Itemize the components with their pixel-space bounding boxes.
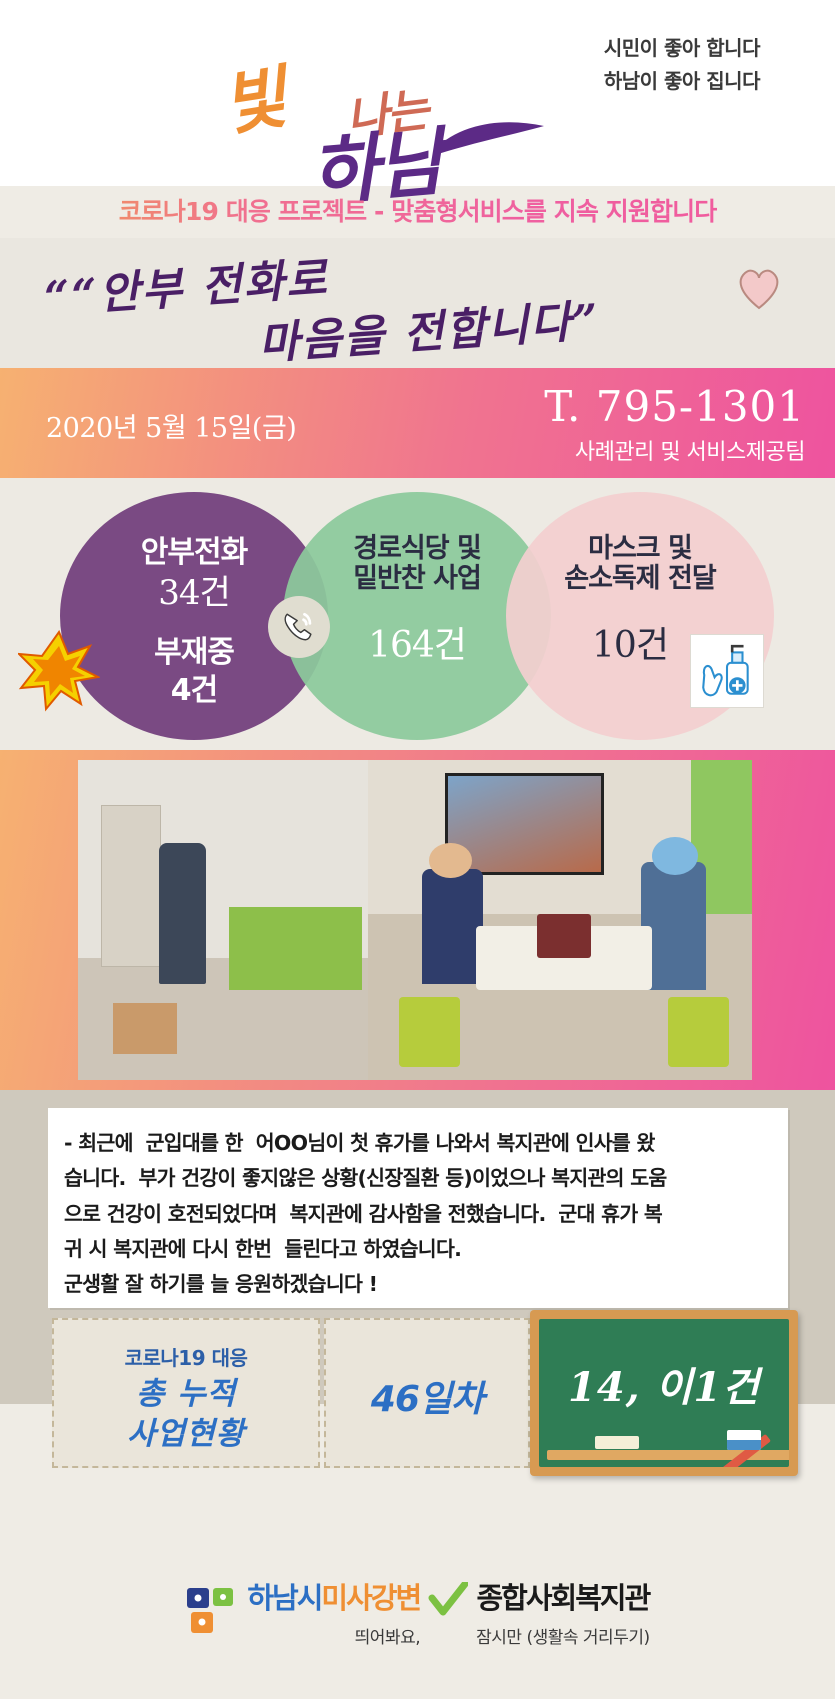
footer-right-block: 종합사회복지관 잠시만 (생활속 거리두기) — [476, 1584, 649, 1648]
phone-ringing-icon — [268, 596, 330, 658]
report-date: 2020년 5월 15일(금) — [46, 406, 296, 445]
team-name: 사례관리 및 서비스제공팀 — [575, 434, 805, 466]
phone-number: T. 795-1301 — [544, 382, 805, 431]
project-subhead: 코로나19 대응 프로젝트 - 맞춤형서비스를 지속 지원합니다 — [0, 192, 835, 228]
story-text: - 최근에 군입대를 한 어OO님이 첫 휴가를 나와서 복지관에 인사를 왔 … — [64, 1126, 772, 1302]
footer-left-block: 하남시미사강변 띄어봐요, — [247, 1584, 420, 1648]
footer-org-orange: 미사강변 — [321, 1581, 420, 1615]
chalkboard-surface: 14, 이1건 — [539, 1319, 789, 1467]
check-mark-icon — [428, 1582, 468, 1618]
footer-org-blue: 하남시 — [247, 1581, 321, 1615]
chalk-stick-icon — [595, 1436, 639, 1449]
footer-logo-row: 하남시미사강변 띄어봐요, 종합사회복지관 잠시만 (생활속 거리두기) — [0, 1584, 835, 1648]
heart-icon — [735, 266, 783, 310]
stats-venn: 안부전화 34건 부재중 4건 경로식당 및 밑반찬 사업 164건 마스크 및… — [0, 478, 835, 750]
story-box: - 최근에 군입대를 한 어OO님이 첫 휴가를 나와서 복지관에 인사를 왔 … — [48, 1108, 788, 1308]
footer-sub-left: 띄어봐요, — [355, 1623, 420, 1648]
tagline-line-1: 시민이 좋아 합니다 — [430, 32, 760, 65]
header: 빛 나는 하남 시민이 좋아 합니다 하남이 좋아 집니다 코로나19 대응 프… — [0, 0, 835, 186]
supplies-title-line-2: 손소독제 전달 — [506, 564, 774, 594]
footer: 하남시미사강변 띄어봐요, 종합사회복지관 잠시만 (생활속 거리두기) — [0, 1488, 835, 1699]
quote-banner: ““안부 전화로 마음을 전합니다” — [0, 238, 835, 368]
tagline: 시민이 좋아 합니다 하남이 좋아 집니다 — [430, 32, 760, 98]
supplies-title-line-1: 마스크 및 — [506, 534, 774, 564]
supplies-title: 마스크 및 손소독제 전달 — [506, 534, 774, 594]
footer-sub-right: 잠시만 (생활속 거리두기) — [476, 1623, 649, 1648]
missed-calls-count: 4건 — [60, 674, 328, 708]
poster-root: 빛 나는 하남 시민이 좋아 합니다 하남이 좋아 집니다 코로나19 대응 프… — [0, 0, 835, 1699]
logo-text-bit: 빛 — [215, 42, 290, 149]
cumulative-big-label-1: 총 누적 — [52, 1368, 320, 1413]
chalkboard: 14, 이1건 — [530, 1310, 798, 1476]
hand-sanitizer-icon — [690, 634, 764, 708]
summary-row: 코로나19 대응 총 누적 사업현황 46일차 14, 이1건 — [0, 1308, 835, 1488]
footer-org-line-1: 하남시미사강변 — [247, 1584, 420, 1613]
tagline-line-2: 하남이 좋아 집니다 — [430, 65, 760, 98]
day-count-value: 46일차 — [324, 1370, 530, 1422]
photo-counseling — [368, 760, 752, 1080]
footer-org-line-2: 종합사회복지관 — [477, 1584, 650, 1613]
star-burst-icon — [18, 630, 100, 712]
puzzle-logo-icon — [185, 1586, 241, 1636]
info-banner: 2020년 5월 15일(금) T. 795-1301 사례관리 및 서비스제공… — [0, 368, 835, 478]
cumulative-small-label: 코로나19 대응 — [52, 1342, 320, 1371]
logo-swoosh-icon — [436, 116, 546, 156]
photo-strip — [0, 750, 835, 1090]
photo-office-visit — [78, 760, 368, 1080]
eraser-base — [727, 1440, 761, 1450]
chalkboard-total: 14, 이1건 — [539, 1355, 789, 1413]
cumulative-big-label-2: 사업현황 — [52, 1408, 320, 1453]
